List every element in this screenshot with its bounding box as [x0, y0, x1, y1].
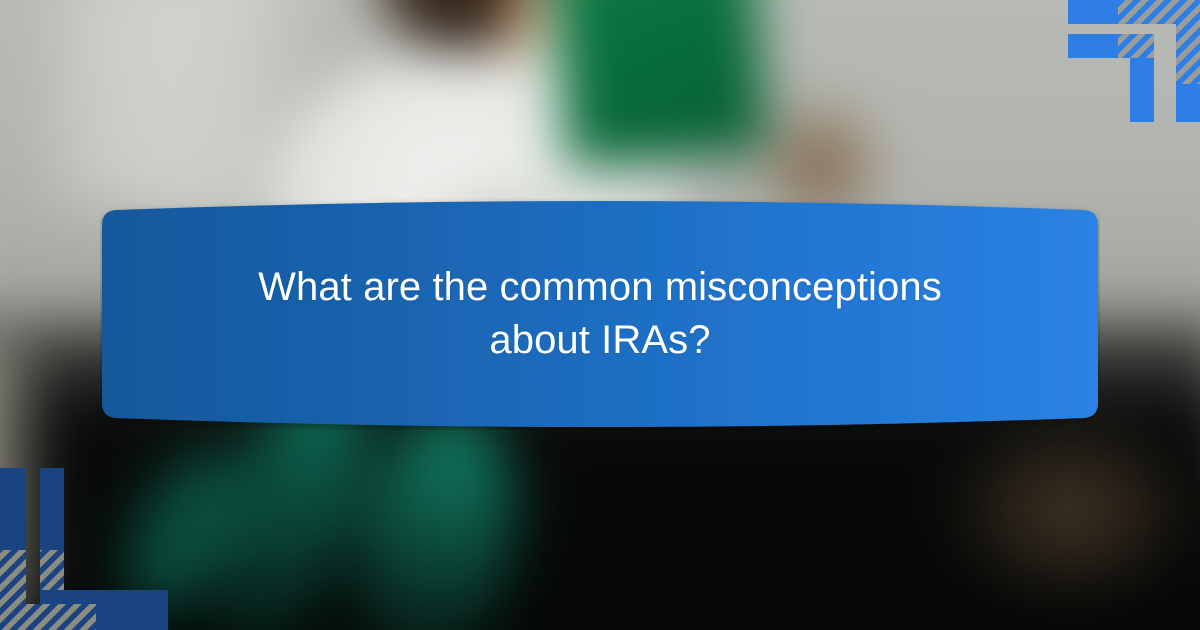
page-title: What are the common misconceptions about… [220, 261, 980, 367]
social-share-card: What are the common misconceptions about… [0, 0, 1200, 630]
green-book [551, 0, 769, 168]
background-left-strip [0, 340, 50, 620]
background-wall-highlight [60, 0, 180, 210]
background-warm-blur [940, 410, 1200, 610]
title-banner: What are the common misconceptions about… [100, 198, 1100, 430]
title-banner-text-area: What are the common misconceptions about… [100, 198, 1100, 430]
